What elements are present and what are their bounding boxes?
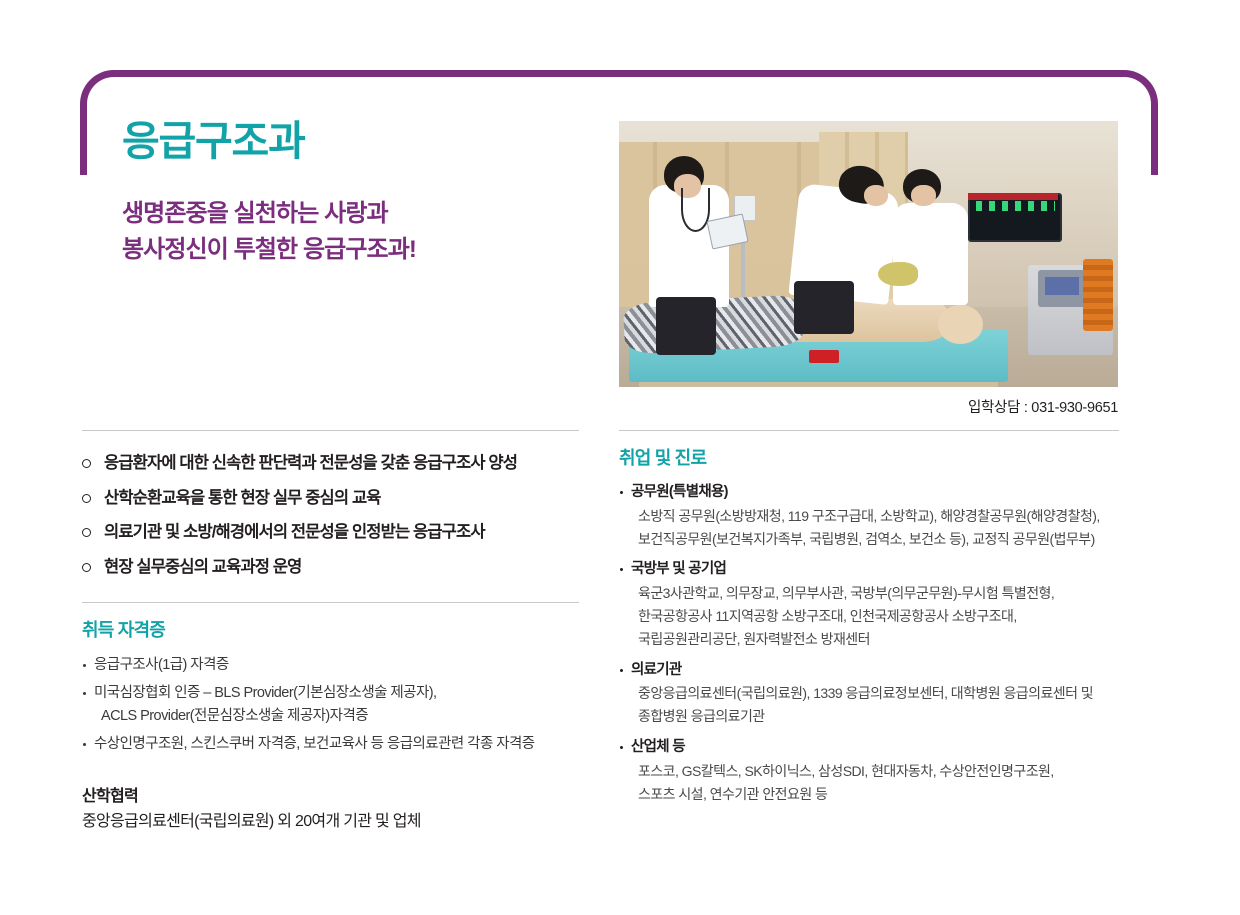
career-group-title: 산업체 등 [619,737,1119,759]
certification-text: 미국심장협회 인증 – BLS Provider(기본심장소생술 제공자), [94,685,437,701]
career-line: 육군3사관학교, 의무장교, 의무부사관, 국방부(의무군무원)-무시험 특별전… [638,582,1119,605]
photo-red-equipment-case [809,350,839,363]
certification-text: 수상인명구조원, 스킨스쿠버 자격증, 보건교육사 등 응급의료관련 각종 자격… [94,736,535,752]
list-item: 응급구조사(1급) 자격증 [82,654,579,677]
list-item: 산업체 등 포스코, GS칼텍스, SK하이닉스, 삼성SDI, 현대자동차, … [619,737,1119,805]
career-group-title: 의료기관 [619,660,1119,682]
photo-orange-cables [1083,259,1113,331]
list-item: 공무원(특별채용) 소방직 공무원(소방방재청, 119 구조구급대, 소방학교… [619,482,1119,550]
career-line: 스포츠 시설, 연수기관 안전요원 등 [638,783,1119,806]
divider-certifications [82,602,579,603]
career-line: 국립공원관리공단, 원자력발전소 방재센터 [638,628,1119,651]
list-item: 수상인명구조원, 스킨스쿠버 자격증, 보건교육사 등 응급의료관련 각종 자격… [82,733,579,756]
list-item: 산학순환교육을 통한 현장 실무 중심의 교육 [82,486,579,512]
photo-student-observer-pants [656,297,716,356]
list-item: 의료기관 및 소방/해경에서의 전문성을 인정받는 응급구조사 [82,520,579,546]
career-line: 소방직 공무원(소방방재청, 119 구조구급대, 소방학교), 해양경찰공무원… [638,505,1119,528]
careers-heading: 취업 및 진로 [619,444,1119,470]
photo-patient-monitor [968,193,1062,242]
career-line: 보건직공무원(보건복지가족부, 국립병원, 검역소, 보건소 등), 교정직 공… [638,528,1119,551]
certification-text: 응급구조사(1급) 자격증 [94,657,229,673]
careers-list: 공무원(특별채용) 소방직 공무원(소방방재청, 119 구조구급대, 소방학교… [619,482,1119,805]
list-item: 미국심장협회 인증 – BLS Provider(기본심장소생술 제공자), A… [82,682,579,729]
page-subtitle-line-1: 생명존중을 실천하는 사랑과 [122,196,416,232]
career-group-title: 국방부 및 공기업 [619,559,1119,581]
career-line: 종합병원 응급의료기관 [638,705,1119,728]
right-column: 취업 및 진로 공무원(특별채용) 소방직 공무원(소방방재청, 119 구조구… [619,430,1119,814]
certifications-heading: 취득 자격증 [82,616,579,642]
photo-student-ventilation [893,203,968,304]
industry-cooperation-title: 산학협력 [82,782,579,806]
industry-cooperation-block: 산학협력 중앙응급의료센터(국립의료원) 외 20여개 기관 및 업체 [82,782,579,834]
photo-bag-valve-mask [878,262,918,286]
page-subtitle: 생명존중을 실천하는 사랑과 봉사정신이 투철한 응급구조과! [122,196,416,269]
career-group-title: 공무원(특별채용) [619,482,1119,504]
certification-text-cont: ACLS Provider(전문심장소생술 제공자)자격증 [94,705,579,728]
photo-student-compressions-face [864,185,889,206]
career-group-body: 포스코, GS칼텍스, SK하이닉스, 삼성SDI, 현대자동차, 수상안전인명… [619,760,1119,806]
career-group-body: 육군3사관학교, 의무장교, 의무부사관, 국방부(의무군무원)-무시험 특별전… [619,582,1119,650]
career-group-body: 중앙응급의료센터(국립의료원), 1339 응급의료정보센터, 대학병원 응급의… [619,682,1119,728]
list-item: 의료기관 중앙응급의료센터(국립의료원), 1339 응급의료정보센터, 대학병… [619,660,1119,728]
page-title: 응급구조과 [122,119,305,164]
career-line: 포스코, GS칼텍스, SK하이닉스, 삼성SDI, 현대자동차, 수상안전인명… [638,760,1119,783]
list-item: 현장 실무중심의 교육과정 운영 [82,555,579,581]
photo-student-compressions-pants [794,281,854,334]
career-line: 한국공항공사 11지역공항 소방구조대, 인천국제공항공사 소방구조대, [638,605,1119,628]
photo-monitor-header-bar [968,193,1058,200]
list-item: 국방부 및 공기업 육군3사관학교, 의무장교, 의무부사관, 국방부(의무군무… [619,559,1119,650]
intro-bullet-list: 응급환자에 대한 신속한 판단력과 전문성을 갖춘 응급구조사 양성 산학순환교… [82,431,579,580]
left-column: 응급환자에 대한 신속한 판단력과 전문성을 갖춘 응급구조사 양성 산학순환교… [82,430,579,834]
divider-careers [619,430,1119,431]
list-item: 응급환자에 대한 신속한 판단력과 전문성을 갖춘 응급구조사 양성 [82,451,579,477]
page-subtitle-line-2: 봉사정신이 투철한 응급구조과! [122,232,416,268]
certifications-list: 응급구조사(1급) 자격증 미국심장협회 인증 – BLS Provider(기… [82,654,579,756]
career-line: 중앙응급의료센터(국립의료원), 1339 응급의료정보센터, 대학병원 응급의… [638,682,1119,705]
industry-cooperation-body: 중앙응급의료센터(국립의료원) 외 20여개 기관 및 업체 [82,810,579,834]
photo-student-ventilation-face [911,185,936,206]
admission-contact: 입학상담 : 031-930-9651 [619,396,1118,417]
career-group-body: 소방직 공무원(소방방재청, 119 구조구급대, 소방학교), 해양경찰공무원… [619,505,1119,551]
cpr-training-photo [619,121,1118,387]
